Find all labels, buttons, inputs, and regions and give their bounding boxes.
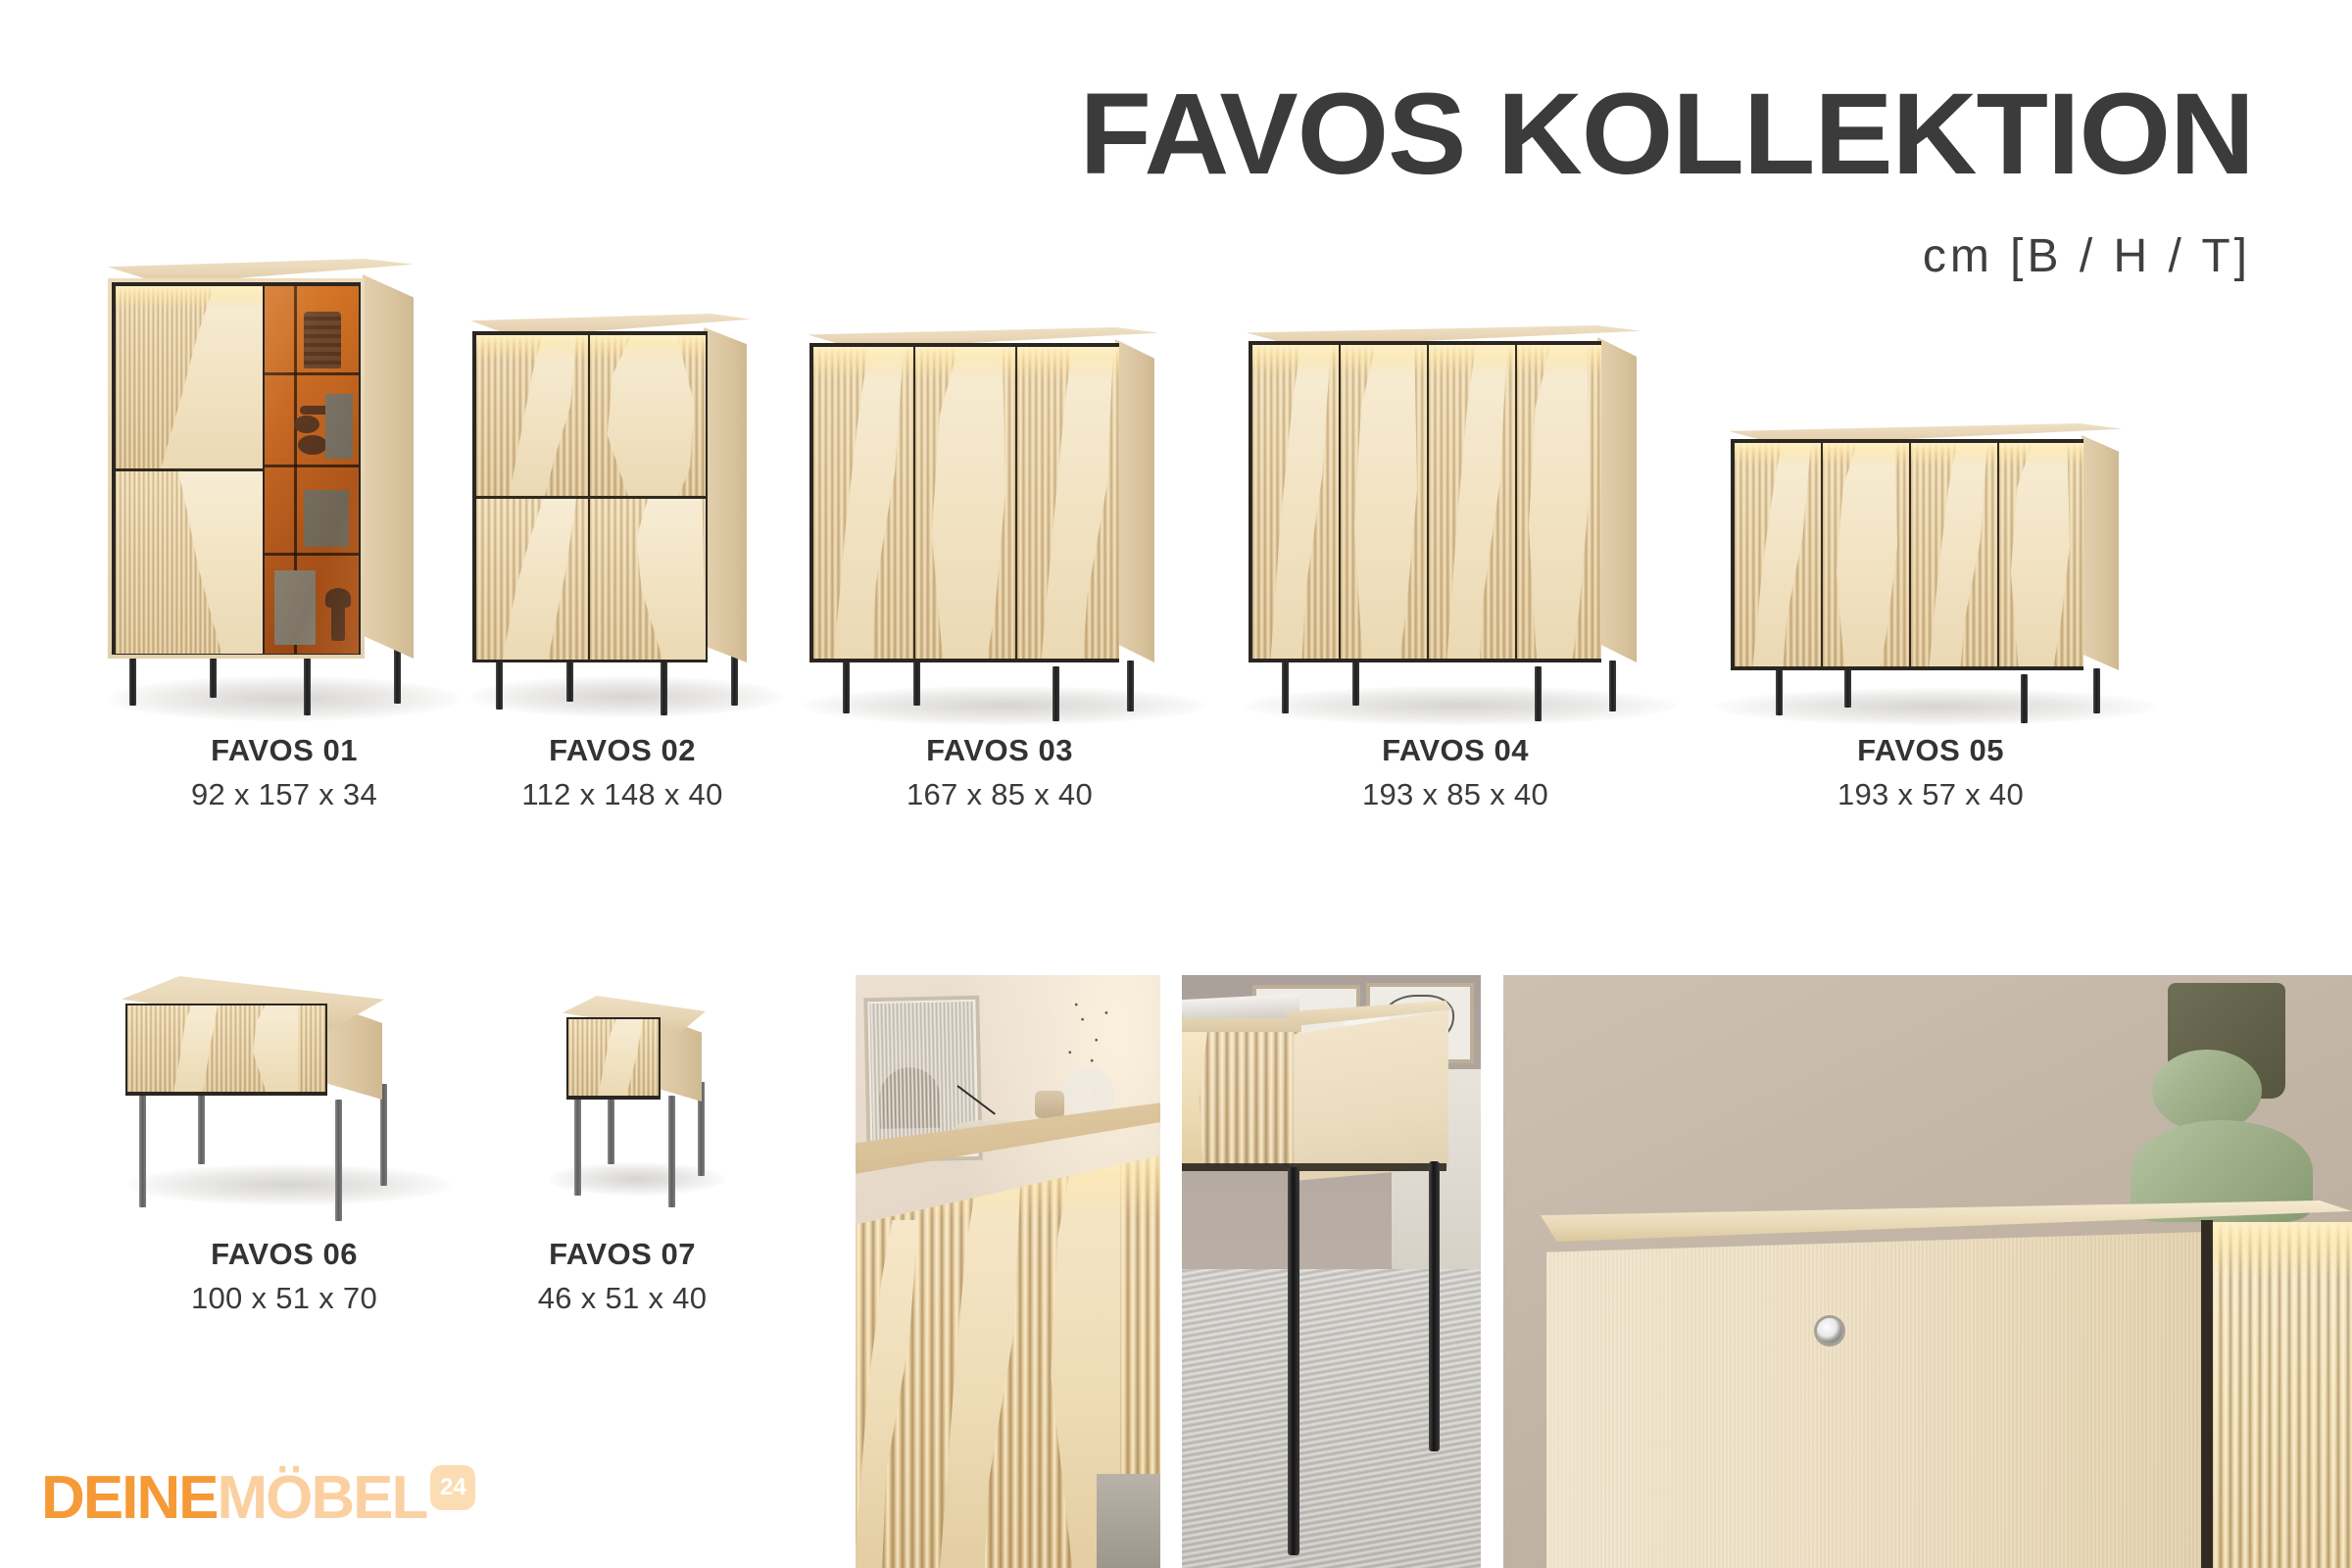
wave-inlay (169, 1005, 218, 1092)
cabinet-leg (1609, 661, 1616, 711)
product-name: FAVOS 01 (108, 733, 461, 768)
cabinet-leg (661, 659, 667, 715)
wave-inlay (1750, 443, 1811, 666)
fluted-door-1[interactable] (813, 347, 913, 659)
product-name: FAVOS 05 (1705, 733, 2156, 768)
fluted-door-4[interactable] (1517, 345, 1601, 659)
candle-jar (1035, 1091, 1064, 1118)
cabinet-side-panel (704, 327, 747, 662)
fluted-door-upper-left[interactable] (476, 335, 588, 496)
cabinet-side-panel (363, 274, 414, 659)
product-name: FAVOS 03 (794, 733, 1205, 768)
door-seam-vertical (1821, 443, 1823, 666)
cabinet-leg (731, 653, 738, 706)
table-leg (335, 1100, 342, 1221)
floor-shadow (108, 676, 461, 721)
product-favos-06[interactable]: FAVOS 06 100 x 51 x 70 (108, 951, 461, 1284)
door-seam-vertical (913, 347, 915, 659)
page-title: FAVOS KOLLEKTION (1080, 76, 2254, 192)
caption-favos-03: FAVOS 03 167 x 85 x 40 (794, 733, 1205, 814)
brand-name-part2: MÖBEL (217, 1464, 426, 1532)
cabinet-leg (1288, 1167, 1299, 1555)
cabinet-side-panel (1115, 339, 1154, 662)
photo-cabinet-side-panel (1284, 1010, 1448, 1181)
cabinet-leg (1535, 666, 1542, 721)
fluted-door-lower-left[interactable] (476, 499, 588, 660)
cabinet-leg (1053, 666, 1059, 721)
wave-inlay (1268, 345, 1331, 659)
push-latch-icon[interactable] (1817, 1318, 1842, 1344)
fluted-door-upper-left[interactable] (116, 286, 263, 468)
product-dimensions: 112 x 148 x 40 (461, 774, 784, 815)
photo-latch-detail[interactable] (1503, 975, 2352, 1568)
cabinet-leg (1282, 661, 1289, 713)
brand-name-part1: DEINE (41, 1464, 217, 1532)
fluted-door-3[interactable] (1911, 443, 1997, 666)
fluted-door-1[interactable] (1735, 443, 1821, 666)
product-name: FAVOS 02 (461, 733, 784, 768)
wave-inlay (155, 471, 263, 654)
wave-inlay (1445, 345, 1507, 659)
cabinet-leg (843, 661, 850, 713)
door-seam-horizontal (116, 468, 263, 470)
product-name: FAVOS 07 (461, 1237, 784, 1272)
fluted-door-4[interactable] (1999, 443, 2083, 666)
fluted-door-3[interactable] (1017, 347, 1119, 659)
photo-fluted-section (2211, 1222, 2352, 1568)
cabinet-side-panel (2082, 435, 2119, 670)
wave-inlay (1037, 347, 1113, 659)
cabinet-reveal-gap (2201, 1220, 2213, 1568)
photo-corner-legs[interactable] (1182, 975, 1481, 1568)
fluted-door-upper-right[interactable] (590, 335, 706, 496)
fluted-front-texture (2211, 1222, 2352, 1568)
product-name: FAVOS 06 (108, 1237, 461, 1272)
product-dimensions: 167 x 85 x 40 (794, 774, 1205, 815)
green-ceramic-vase (2152, 1050, 2262, 1132)
fluted-door-2[interactable] (1823, 443, 1909, 666)
fluted-door-lower-left[interactable] (116, 471, 263, 654)
product-dimensions: 193 x 57 x 40 (1705, 774, 2156, 815)
glass-vitrine[interactable] (265, 286, 359, 654)
door-seam-horizontal (476, 496, 706, 498)
fluted-door-2[interactable] (1341, 345, 1427, 659)
wave-inlay (147, 286, 263, 468)
cabinet-leg (1352, 657, 1359, 706)
table-leg (139, 1088, 146, 1207)
caption-favos-01: FAVOS 01 92 x 157 x 34 (108, 733, 461, 814)
vitrine-glass (265, 286, 359, 654)
fluted-drawer-front[interactable] (568, 1019, 659, 1096)
photo-cabinet-panel (1546, 1232, 2203, 1568)
wave-inlay (831, 347, 904, 659)
veneer-grain (1546, 1232, 2203, 1568)
caption-favos-07: FAVOS 07 46 x 51 x 40 (461, 1237, 784, 1318)
door-seam-vertical (1909, 443, 1911, 666)
wave-inlay (594, 1019, 643, 1096)
wave-inlay (502, 335, 576, 496)
cabinet-leg (394, 645, 401, 704)
brand-logo[interactable]: DEINEMÖBEL24 (41, 1462, 475, 1535)
door-seam-vertical (1515, 345, 1517, 659)
table-leg (574, 1088, 581, 1196)
cabinet-leg (2093, 668, 2100, 713)
product-dimensions: 100 x 51 x 70 (108, 1278, 461, 1319)
photo-sideboard-styling[interactable] (856, 975, 1160, 1568)
caption-favos-02: FAVOS 02 112 x 148 x 40 (461, 733, 784, 814)
brand-badge-24: 24 (430, 1465, 475, 1510)
wave-inlay (1833, 443, 1897, 666)
caption-favos-06: FAVOS 06 100 x 51 x 70 (108, 1237, 461, 1318)
floor-shadow (804, 686, 1205, 725)
product-favos-01[interactable]: FAVOS 01 92 x 157 x 34 (108, 245, 461, 715)
product-favos-07[interactable]: FAVOS 07 46 x 51 x 40 (461, 951, 784, 1284)
table-leg (668, 1096, 675, 1207)
fluted-door-lower-right[interactable] (590, 499, 706, 660)
door-seam-vertical (1339, 345, 1341, 659)
wave-inlay (498, 499, 576, 660)
dried-branches (1057, 995, 1120, 1077)
wave-inlay (1350, 345, 1417, 659)
floor-shadow (127, 1164, 451, 1205)
product-favos-04[interactable]: FAVOS 04 193 x 85 x 40 (1235, 245, 1676, 715)
fluted-door-3[interactable] (1429, 345, 1515, 659)
door-seam-vertical (588, 335, 590, 660)
product-favos-02[interactable]: FAVOS 02 112 x 148 x 40 (461, 245, 784, 715)
product-dimensions: 193 x 85 x 40 (1235, 774, 1676, 815)
product-sheet: FAVOS KOLLEKTION cm [B / H / T] (0, 0, 2352, 1568)
cabinet-side-panel (1597, 337, 1637, 662)
caption-favos-05: FAVOS 05 193 x 57 x 40 (1705, 733, 2156, 814)
wave-inlay (623, 499, 706, 660)
door-seam-vertical (1997, 443, 1999, 666)
cabinet-leg (304, 651, 311, 715)
cabinet-base-shadow (1182, 1163, 1446, 1171)
wave-inlay (927, 347, 1005, 659)
door-seam-vertical (1015, 347, 1017, 659)
cabinet-leg (1776, 668, 1783, 715)
wave-inlay (1927, 443, 1987, 666)
cabinet-leg (496, 655, 503, 710)
photo-floor (1097, 1474, 1160, 1568)
cabinet-leg (1429, 1161, 1440, 1451)
product-favos-03[interactable]: FAVOS 03 167 x 85 x 40 (794, 245, 1205, 715)
fluted-door-2[interactable] (915, 347, 1015, 659)
cabinet-leg (913, 657, 920, 706)
cabinet-leg (2021, 674, 2028, 723)
product-name: FAVOS 04 (1235, 733, 1676, 768)
cabinet-leg (1844, 664, 1851, 708)
photo-cabinet-front-left (1182, 1032, 1301, 1165)
fluted-door-1[interactable] (1252, 345, 1339, 659)
product-dimensions: 46 x 51 x 40 (461, 1278, 784, 1319)
wave-inlay (243, 1005, 298, 1092)
cabinet-leg (1127, 661, 1134, 711)
product-dimensions: 92 x 157 x 34 (108, 774, 461, 815)
wave-inlay (1525, 345, 1590, 659)
product-favos-05[interactable]: FAVOS 05 193 x 57 x 40 (1705, 245, 2156, 715)
caption-favos-04: FAVOS 04 193 x 85 x 40 (1235, 733, 1676, 814)
wave-inlay (600, 335, 694, 496)
fluted-drawer-front[interactable] (127, 1005, 325, 1092)
door-seam-vertical (1427, 345, 1429, 659)
wave-inlay (2007, 443, 2070, 666)
